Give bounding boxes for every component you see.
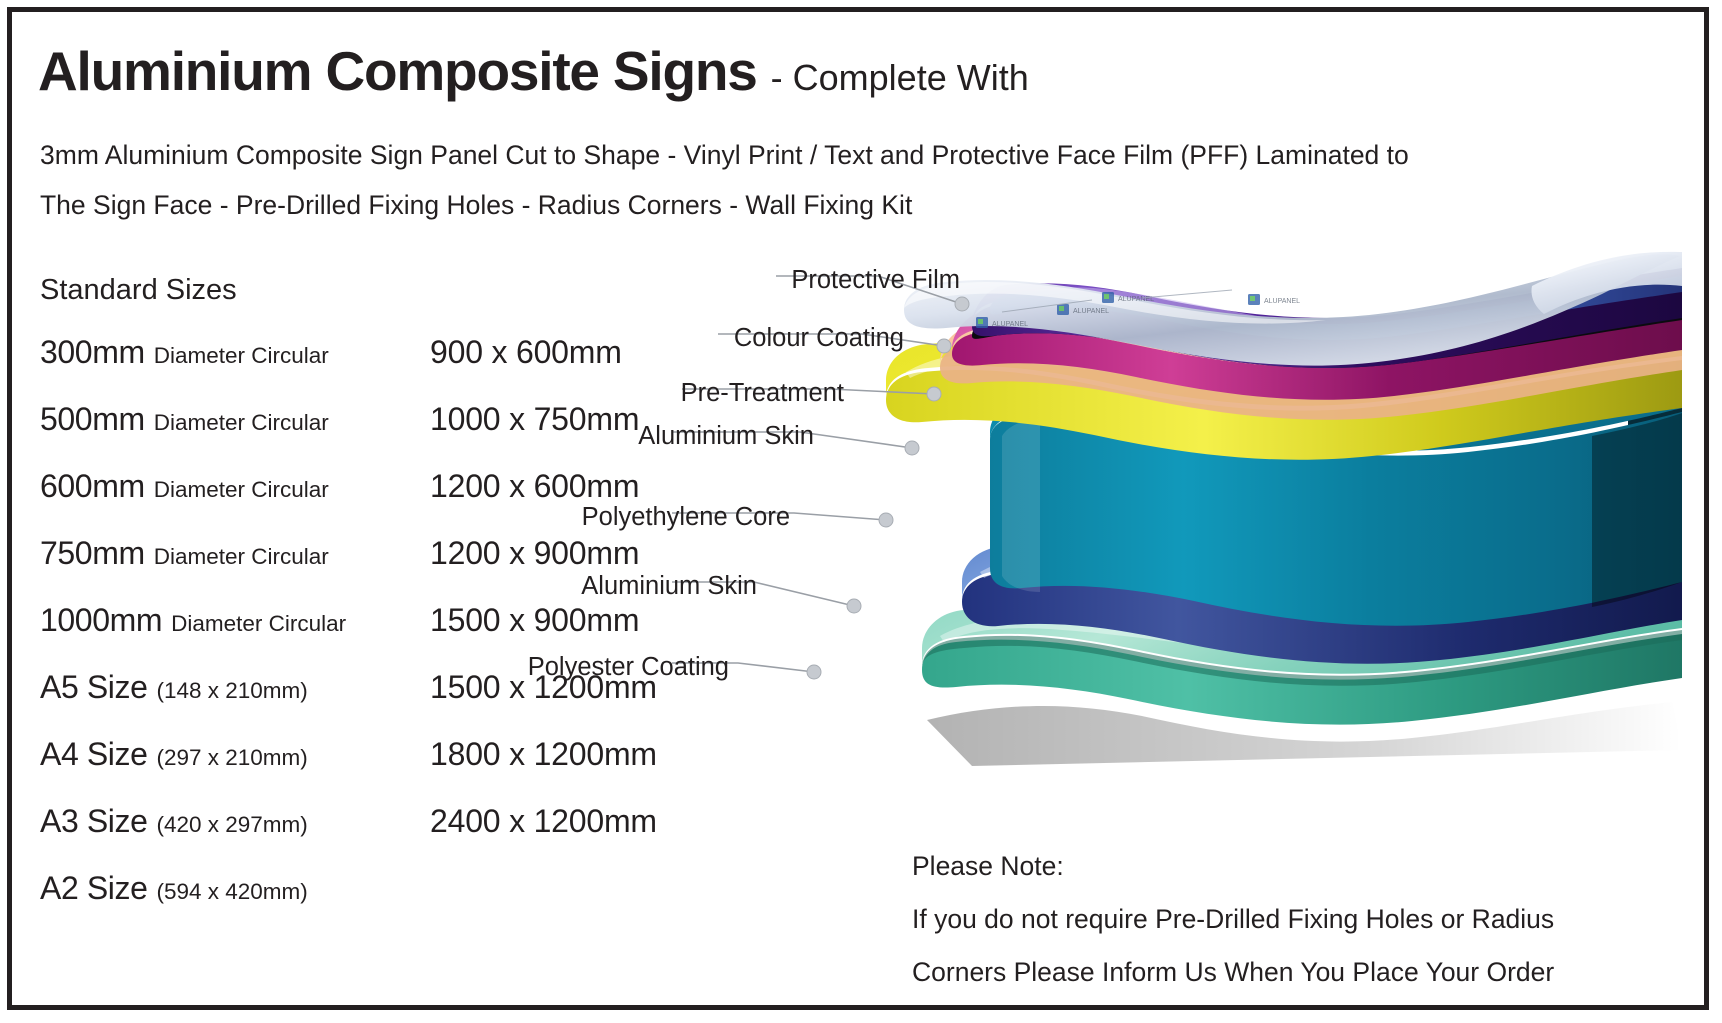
size-label-secondary: Diameter Circular	[154, 410, 329, 436]
title-main-text: Aluminium Composite Signs	[38, 44, 757, 99]
size-label-secondary: Diameter Circular	[171, 611, 346, 637]
size-label-primary: 300mm	[40, 334, 145, 371]
size-cell-left: 750mm Diameter Circular	[40, 535, 430, 572]
please-note-line-1: If you do not require Pre-Drilled Fixing…	[912, 893, 1554, 946]
size-label-primary: 600mm	[40, 468, 145, 505]
intro-line-2: The Sign Face - Pre-Drilled Fixing Holes…	[40, 180, 1680, 230]
size-label-primary: 500mm	[40, 401, 145, 438]
standard-sizes-heading: Standard Sizes	[40, 274, 237, 307]
size-row: A2 Size (594 x 420mm)	[40, 870, 760, 937]
size-cell-right: 900 x 600mm	[430, 334, 622, 371]
diagram-label-polyethylene-core: Polyethylene Core	[582, 505, 790, 531]
diagram-label-pre-treatment: Pre-Treatment	[681, 381, 844, 407]
size-cell-left: 600mm Diameter Circular	[40, 468, 430, 505]
size-label-primary: 750mm	[40, 535, 145, 572]
svg-text:ALUPANEL: ALUPANEL	[1073, 308, 1109, 315]
size-cell-left: 500mm Diameter Circular	[40, 401, 430, 438]
poster-frame: Aluminium Composite Signs - Complete Wit…	[7, 7, 1709, 1010]
size-label-secondary: Diameter Circular	[154, 343, 329, 369]
diagram-label-polyester-coating: Polyester Coating	[528, 655, 729, 681]
size-row: A4 Size (297 x 210mm) 1800 x 1200mm	[40, 736, 760, 803]
size-label-primary: A3 Size	[40, 803, 147, 840]
svg-text:ALUPANEL: ALUPANEL	[992, 321, 1028, 328]
size-cell-right: 1800 x 1200mm	[430, 736, 657, 773]
size-label-primary: A5 Size	[40, 669, 147, 706]
size-label-secondary: (297 x 210mm)	[156, 745, 307, 771]
diagram-label-colour-coating: Colour Coating	[734, 326, 904, 352]
please-note-line-2: Corners Please Inform Us When You Place …	[912, 946, 1554, 999]
size-cell-left: A2 Size (594 x 420mm)	[40, 870, 430, 907]
please-note-heading: Please Note:	[912, 840, 1554, 893]
diagram-label-protective-film: Protective Film	[791, 268, 960, 294]
size-row: 300mm Diameter Circular 900 x 600mm	[40, 334, 760, 401]
poster-root: Aluminium Composite Signs - Complete Wit…	[0, 0, 1722, 1023]
svg-text:ALUPANEL: ALUPANEL	[1264, 298, 1300, 305]
composite-layer-diagram: Protective Film Colour Coating Pre-Treat…	[672, 250, 1682, 780]
size-label-secondary: Diameter Circular	[154, 544, 329, 570]
size-cell-left: A5 Size (148 x 210mm)	[40, 669, 430, 706]
intro-paragraph: 3mm Aluminium Composite Sign Panel Cut t…	[40, 130, 1680, 231]
size-label-secondary: (420 x 297mm)	[156, 812, 307, 838]
size-cell-right: 1000 x 750mm	[430, 401, 639, 438]
size-cell-left: A3 Size (420 x 297mm)	[40, 803, 430, 840]
size-cell-right: 2400 x 1200mm	[430, 803, 657, 840]
size-cell-left: 300mm Diameter Circular	[40, 334, 430, 371]
size-label-primary: A4 Size	[40, 736, 147, 773]
diagram-label-aluminium-skin-top: Aluminium Skin	[638, 424, 814, 450]
size-label-secondary: (148 x 210mm)	[156, 678, 307, 704]
title-subtitle-text: - Complete With	[771, 60, 1029, 96]
diagram-label-aluminium-skin-bottom: Aluminium Skin	[581, 574, 757, 600]
page-title: Aluminium Composite Signs - Complete Wit…	[38, 44, 1029, 99]
size-label-secondary: Diameter Circular	[154, 477, 329, 503]
size-cell-right: 1500 x 900mm	[430, 602, 639, 639]
size-cell-right: 1200 x 900mm	[430, 535, 639, 572]
size-cell-left: A4 Size (297 x 210mm)	[40, 736, 430, 773]
intro-line-1: 3mm Aluminium Composite Sign Panel Cut t…	[40, 130, 1680, 180]
please-note-block: Please Note: If you do not require Pre-D…	[912, 840, 1554, 999]
size-cell-right: 1200 x 600mm	[430, 468, 639, 505]
size-label-secondary: (594 x 420mm)	[156, 879, 307, 905]
size-label-primary: A2 Size	[40, 870, 147, 907]
size-row: A3 Size (420 x 297mm) 2400 x 1200mm	[40, 803, 760, 870]
size-label-primary: 1000mm	[40, 602, 162, 639]
size-cell-left: 1000mm Diameter Circular	[40, 602, 430, 639]
